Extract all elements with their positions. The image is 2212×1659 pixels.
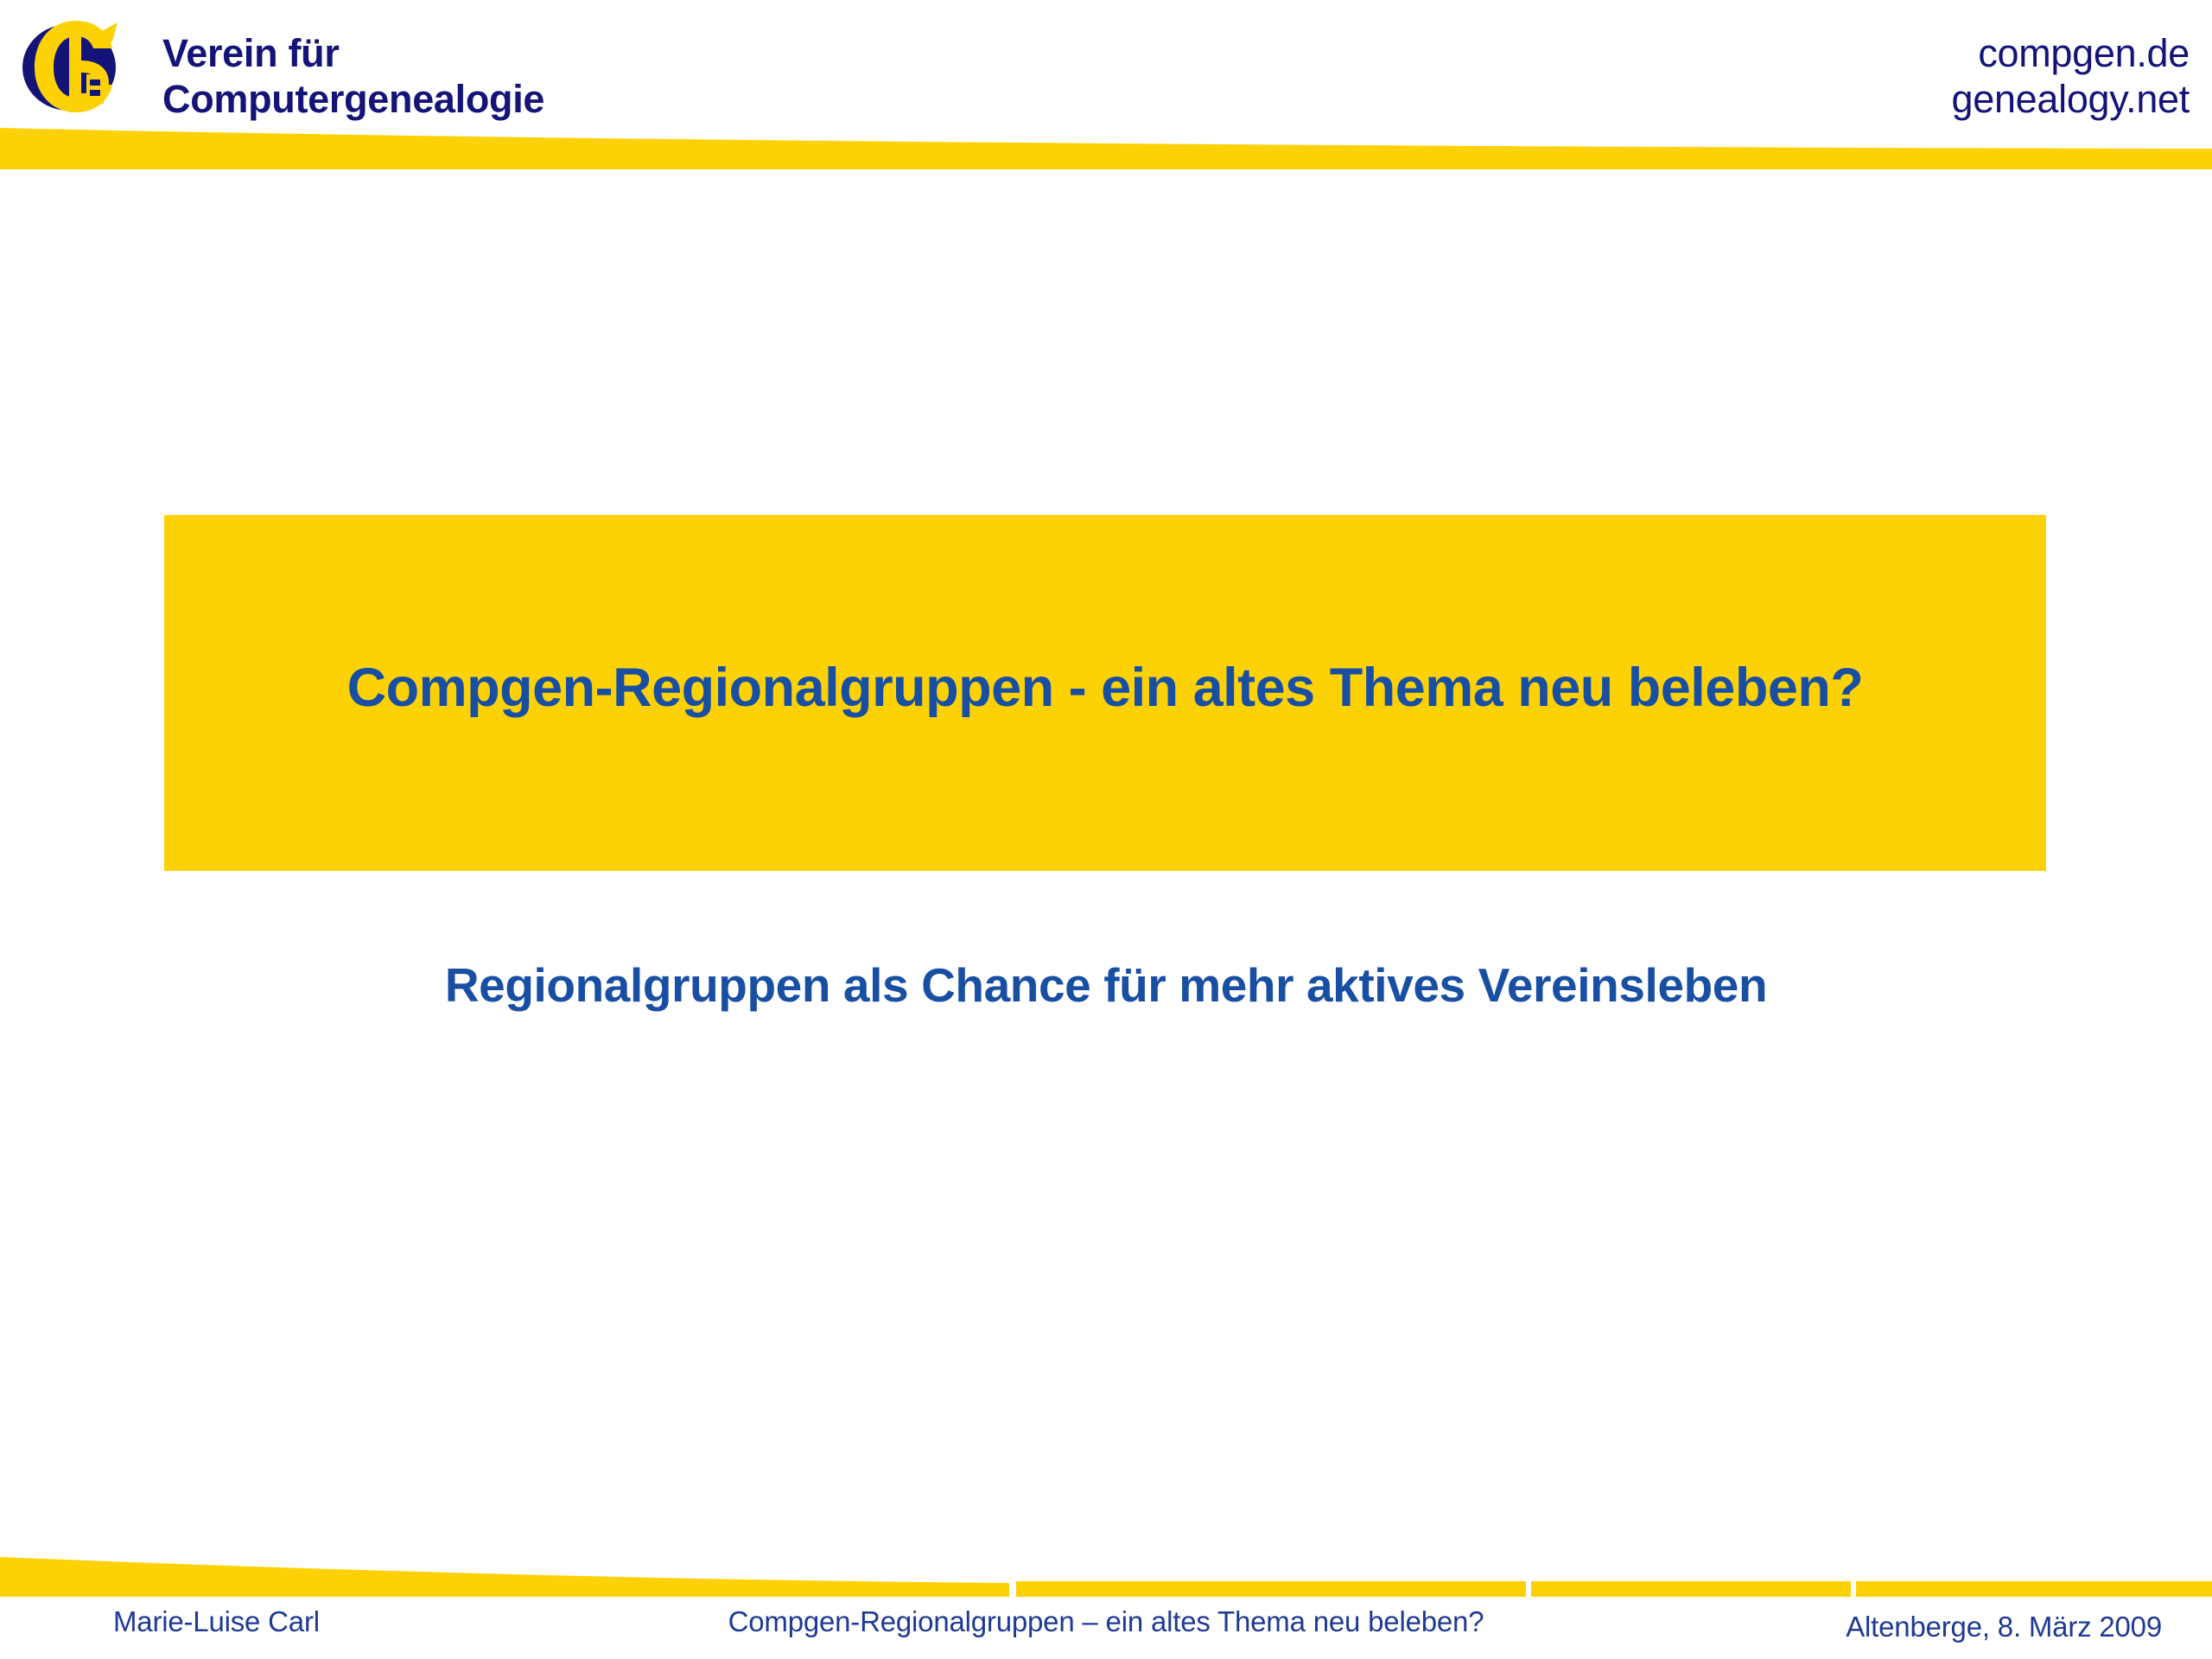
page-title: Compgen-Regionalgruppen - ein altes Them… bbox=[164, 657, 2046, 719]
title-banner: Compgen-Regionalgruppen - ein altes Them… bbox=[164, 515, 2046, 871]
footer-location-date: Altenberge, 8. März 2009 bbox=[1846, 1611, 2162, 1643]
compgen-g-monogram-logo-icon bbox=[16, 10, 128, 119]
organization-name: Verein für Computergenealogie bbox=[162, 31, 544, 122]
page-subtitle: Regionalgruppen als Chance für mehr akti… bbox=[372, 955, 1840, 1015]
website-urls: compgen.de genealogy.net bbox=[1951, 31, 2190, 122]
header-yellow-band bbox=[0, 121, 2212, 169]
footer-yellow-band bbox=[0, 1545, 2212, 1597]
footer: Marie-Luise Carl Compgen-Regionalgruppen… bbox=[0, 1597, 2212, 1659]
